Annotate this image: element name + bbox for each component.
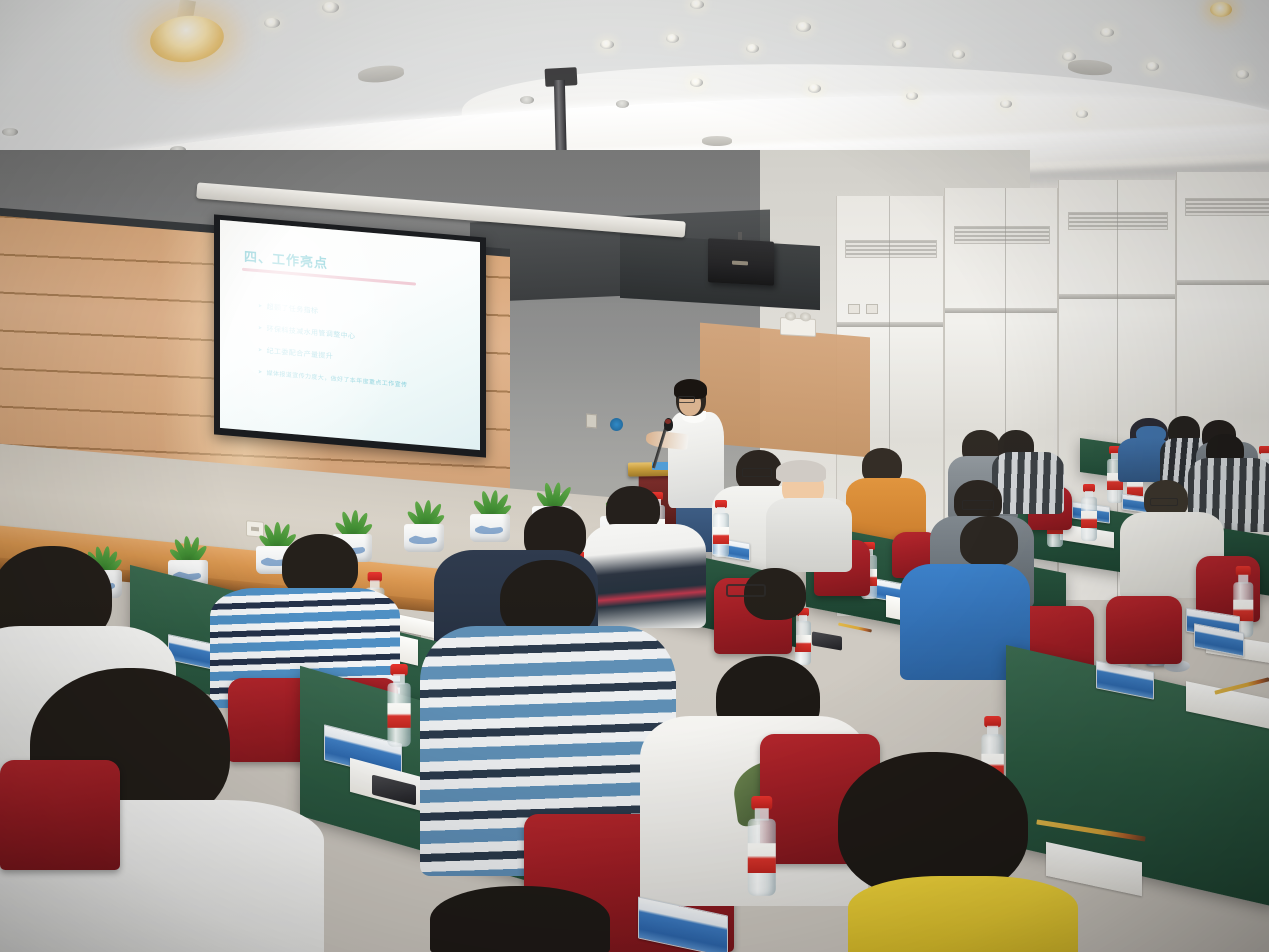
attendee-body xyxy=(584,524,706,628)
downlight-icon xyxy=(690,78,703,87)
emergency-light xyxy=(780,317,816,337)
downlight-icon xyxy=(1210,2,1232,17)
downlight-icon xyxy=(616,100,629,108)
smartphone[interactable] xyxy=(812,631,842,650)
attendee-body xyxy=(848,876,1078,952)
ceiling-vent xyxy=(702,136,732,146)
downlight-icon xyxy=(690,0,704,9)
plant-pot xyxy=(470,514,510,542)
conference-room-photo: 四、工作亮点 超额了任务指标 环保科技减水用管调整中心 纪工委配合产量提升 媒体… xyxy=(0,0,1269,952)
air-vent xyxy=(954,226,1050,244)
glasses-icon xyxy=(726,584,766,597)
glasses-icon xyxy=(678,396,695,403)
downlight-icon xyxy=(808,84,821,93)
pencil[interactable] xyxy=(838,622,872,632)
potted-plant xyxy=(396,488,452,552)
partition-rail xyxy=(1177,280,1269,285)
projection-screen: 四、工作亮点 超额了任务指标 环保科技减水用管调整中心 纪工委配合产量提升 媒体… xyxy=(220,220,480,450)
glasses-icon xyxy=(742,468,772,477)
downlight-icon xyxy=(796,22,811,32)
chair[interactable] xyxy=(1106,596,1182,664)
downlight-icon xyxy=(2,128,18,136)
attendee-head xyxy=(960,516,1018,566)
downlight-icon xyxy=(520,96,534,104)
downlight-icon xyxy=(746,44,759,53)
downlight-icon xyxy=(1146,62,1159,71)
partition-rail xyxy=(945,308,1057,313)
air-vent xyxy=(845,240,936,258)
downlight-icon xyxy=(600,40,614,49)
glasses-icon xyxy=(962,500,994,510)
downlight-icon xyxy=(1236,70,1249,79)
attendee-head xyxy=(430,886,610,952)
downlight-icon xyxy=(906,92,918,100)
downlight-icon xyxy=(666,34,679,43)
downlight-icon xyxy=(952,50,965,59)
potted-plant xyxy=(462,478,518,542)
downlight-icon xyxy=(1000,100,1012,108)
presenter-torso xyxy=(668,412,724,508)
wall-switch[interactable] xyxy=(586,414,597,429)
downlight-icon xyxy=(892,40,906,49)
glasses-icon xyxy=(1150,498,1178,506)
plant-pot xyxy=(404,524,444,552)
attendee-body xyxy=(992,452,1064,514)
wall-indicator-icon xyxy=(610,418,623,431)
air-vent xyxy=(1185,198,1269,216)
wall-speaker xyxy=(708,238,774,285)
partition-rail xyxy=(837,322,943,327)
downlight-icon xyxy=(1076,110,1088,118)
downlight-icon xyxy=(322,2,339,13)
attendee-hair xyxy=(776,460,826,482)
screen-glare xyxy=(220,220,410,450)
wall-outlet[interactable] xyxy=(848,304,860,314)
wall-outlet[interactable] xyxy=(866,304,878,314)
chair[interactable] xyxy=(0,760,120,870)
microphone-windscreen xyxy=(665,419,671,424)
downlight-icon xyxy=(1100,28,1114,37)
downlight-icon xyxy=(264,18,280,28)
attendee-body xyxy=(766,498,852,572)
wood-panel-wall-right xyxy=(700,323,870,458)
